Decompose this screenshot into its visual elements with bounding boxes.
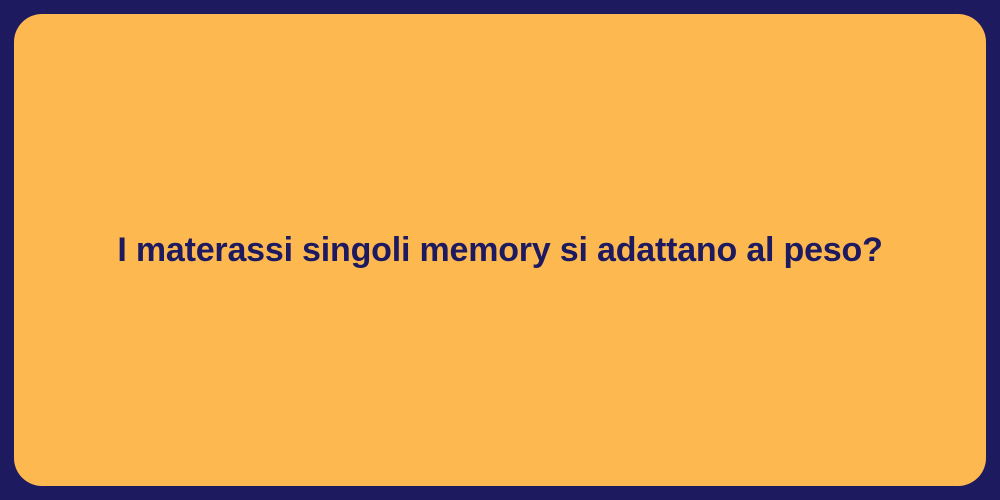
content-panel: I materassi singoli memory si adattano a…	[14, 14, 986, 486]
page-title: I materassi singoli memory si adattano a…	[77, 229, 922, 272]
banner-frame: I materassi singoli memory si adattano a…	[0, 0, 1000, 500]
